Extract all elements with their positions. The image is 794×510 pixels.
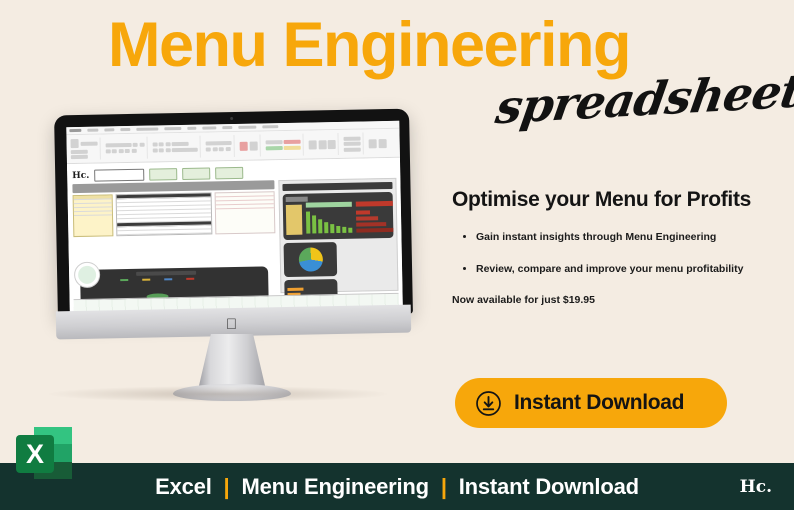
list-item: Gain instant insights through Menu Engin… bbox=[476, 231, 794, 244]
desk-shadow bbox=[48, 386, 388, 402]
excel-icon-letter: X bbox=[16, 435, 54, 473]
nav-button-menu-list[interactable] bbox=[182, 167, 210, 180]
price-line: Now available for just $19.95 bbox=[452, 294, 595, 306]
instant-download-label: Instant Download bbox=[514, 391, 684, 415]
analysis-report-panel bbox=[278, 178, 398, 293]
footer-part-menu-engineering: Menu Engineering bbox=[241, 474, 428, 499]
workbook-logo: Hc. bbox=[72, 171, 89, 181]
footer-part-instant-download: Instant Download bbox=[459, 474, 639, 499]
menu-data-table bbox=[116, 192, 213, 236]
notes-panel bbox=[215, 191, 276, 234]
nav-button-dashboard[interactable] bbox=[94, 169, 144, 182]
monitor-bezel: Hc. bbox=[54, 109, 413, 321]
webcam-icon bbox=[230, 117, 233, 120]
apple-logo:  bbox=[225, 317, 238, 332]
benefits-list: Gain instant insights through Menu Engin… bbox=[462, 231, 794, 294]
poster-canvas: Menu Engineering spreadsheet bbox=[0, 0, 794, 510]
footer-separator-2: | bbox=[435, 474, 453, 499]
pie-chart-card-1 bbox=[284, 242, 338, 277]
nav-button-product-input[interactable] bbox=[149, 168, 177, 181]
footer-bar: Excel | Menu Engineering | Instant Downl… bbox=[0, 463, 794, 510]
page-title: Menu Engineering bbox=[108, 14, 668, 77]
microsoft-excel-icon: X bbox=[12, 427, 72, 483]
footer-text: Excel | Menu Engineering | Instant Downl… bbox=[155, 474, 639, 500]
instant-download-button[interactable]: Instant Download bbox=[455, 378, 727, 428]
list-item: Review, compare and improve your menu pr… bbox=[476, 263, 794, 276]
download-circle-icon bbox=[475, 390, 502, 417]
nav-button-menu-analysis[interactable] bbox=[215, 167, 243, 180]
brand-logo: Hc. bbox=[740, 477, 772, 497]
worksheet: Hc. bbox=[67, 160, 403, 315]
imac-stand bbox=[198, 334, 266, 390]
footer-separator-1: | bbox=[218, 474, 236, 499]
input-table-yellow bbox=[73, 194, 114, 237]
target-items-card bbox=[283, 192, 394, 240]
footer-part-excel: Excel bbox=[155, 474, 212, 499]
imac-mockup: Hc. bbox=[48, 112, 416, 407]
analysis-report-header bbox=[282, 182, 392, 191]
screen-content: Hc. bbox=[66, 121, 403, 315]
marketing-subheading: Optimise your Menu for Profits bbox=[452, 188, 782, 212]
input-tables-row bbox=[73, 191, 276, 237]
